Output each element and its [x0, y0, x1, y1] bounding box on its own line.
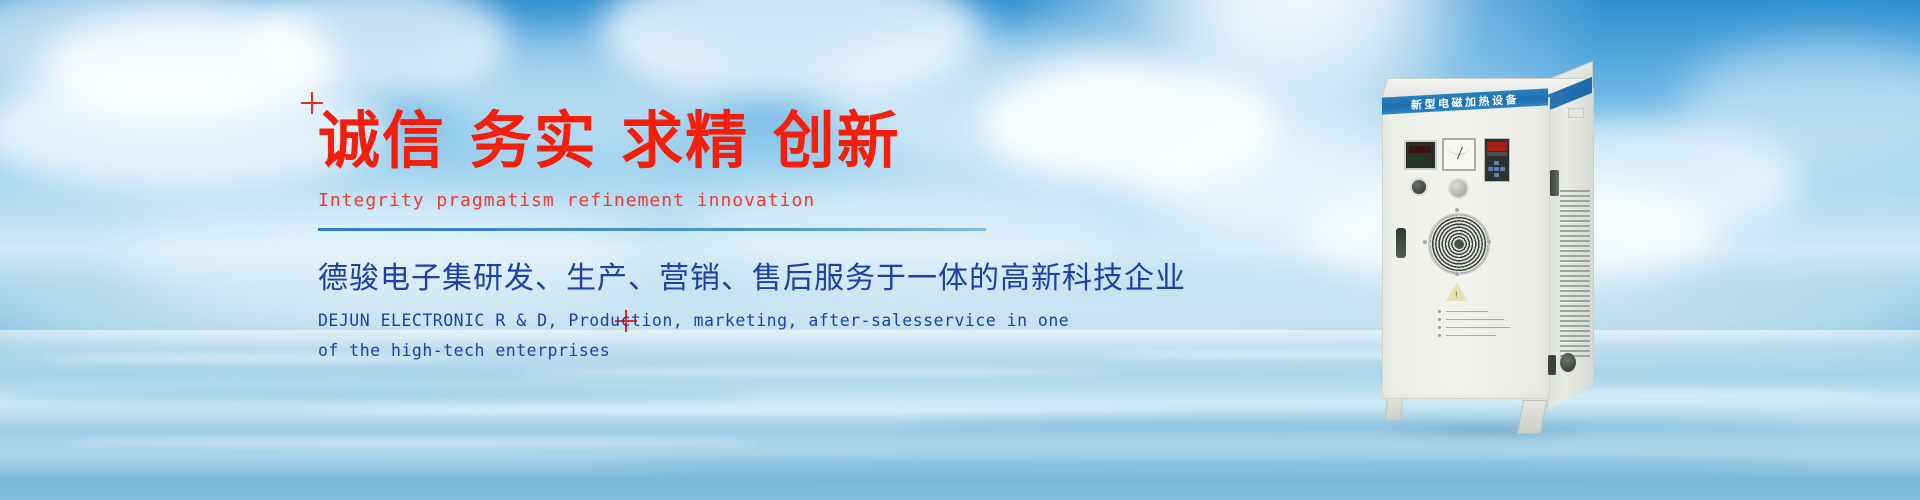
meter-segment-display-secondary: [1409, 156, 1425, 161]
keypad-button: [1494, 161, 1499, 165]
divider: [318, 228, 986, 231]
control-keypad: [1484, 138, 1510, 182]
meter-segment-display: [1409, 146, 1431, 153]
tagline: Integrity pragmatism refinement innovati…: [318, 190, 1018, 211]
product-spec-label: [1438, 308, 1512, 338]
front-vent: [1396, 228, 1406, 258]
keypad-button: [1488, 167, 1493, 171]
fan-grille: [1428, 213, 1490, 275]
label-bullet: [1438, 318, 1441, 321]
banner-text-block: 诚信 务实 求精 创新 Integrity pragmatism refinem…: [318, 110, 1018, 360]
subtitle-chinese: 德骏电子集研发、生产、营销、售后服务于一体的高新科技企业: [318, 253, 1018, 297]
headline: 诚信 务实 求精 创新: [318, 110, 1018, 172]
water-streak: [0, 392, 760, 399]
keypad-buttons: [1488, 161, 1506, 177]
water-streak: [60, 440, 760, 445]
label-bullet: [1438, 326, 1441, 329]
fan-bolt: [1487, 240, 1491, 244]
label-bullet: [1438, 310, 1441, 313]
selector-knob: [1410, 178, 1428, 196]
hero-banner: 诚信 务实 求精 创新 Integrity pragmatism refinem…: [0, 0, 1920, 500]
door-handle: [1550, 170, 1559, 196]
keypad-button: [1500, 167, 1505, 171]
warning-triangle-icon: [1446, 282, 1468, 301]
water-streak: [300, 408, 1200, 413]
label-line: [1446, 327, 1510, 328]
bottom-port: [1560, 353, 1576, 372]
ventilation-louvers: [1560, 190, 1590, 360]
label-line: [1446, 335, 1496, 336]
label-line: [1446, 319, 1504, 320]
bottom-vent: [1548, 355, 1556, 375]
water-streak: [520, 370, 1120, 375]
subtitle-english-line2: of the high-tech enterprises: [318, 341, 1018, 360]
fan-bolt: [1423, 240, 1427, 244]
adjust-knob: [1448, 178, 1469, 199]
keypad-status-bar: [1487, 152, 1507, 156]
fan-bolt: [1455, 272, 1459, 276]
subtitle-english-line1: DEJUN ELECTRONIC R & D, Production, mark…: [318, 311, 1018, 330]
digital-temperature-meter: [1404, 140, 1437, 170]
label-line: [1446, 311, 1488, 312]
product-image-heating-equipment: 新型电磁加热设备: [1380, 50, 1680, 480]
product-shadow: [1380, 422, 1595, 440]
analog-ammeter: [1442, 138, 1476, 171]
fan-bolt: [1455, 208, 1459, 212]
keypad-display: [1487, 142, 1507, 151]
label-bullet: [1438, 334, 1441, 337]
side-badge: [1568, 108, 1584, 118]
keypad-button: [1494, 173, 1499, 177]
keypad-button: [1494, 167, 1499, 171]
